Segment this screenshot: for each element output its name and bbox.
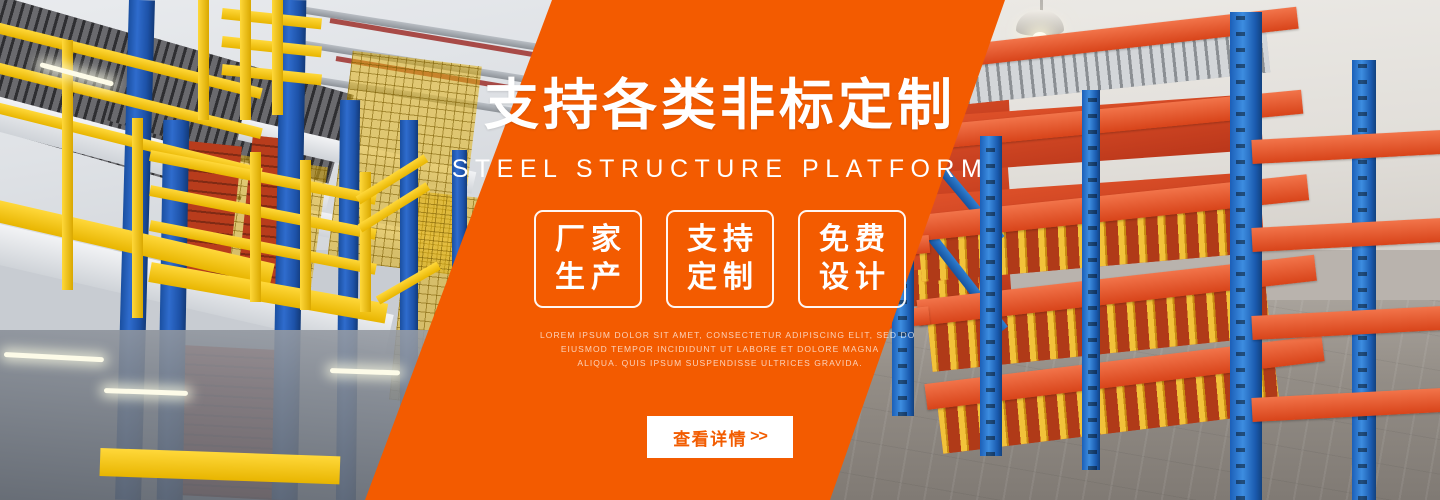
- promo-banner: 支持各类非标定制 STEEL STRUCTURE PLATFORM 厂家 生产 …: [0, 0, 1440, 500]
- view-details-label: 查看详情: [673, 425, 747, 450]
- feature-badge-line2: 生产: [549, 261, 627, 295]
- feature-badge-customization: 支持 定制: [666, 210, 774, 308]
- description-line-1: LOREM IPSUM DOLOR SIT AMET, CONSECTETUR …: [540, 328, 900, 342]
- feature-badge-free-design: 免费 设计: [798, 210, 906, 308]
- feature-badges: 厂家 生产 支持 定制 免费 设计: [534, 210, 906, 308]
- banner-content: 支持各类非标定制 STEEL STRUCTURE PLATFORM 厂家 生产 …: [0, 0, 1440, 500]
- page-title: 支持各类非标定制: [0, 78, 1440, 133]
- description-line-2: EIUSMOD TEMPOR INCIDIDUNT UT LABORE ET D…: [540, 342, 900, 356]
- subtitle: STEEL STRUCTURE PLATFORM: [0, 155, 1440, 184]
- feature-badge-manufacturer: 厂家 生产: [534, 210, 642, 308]
- feature-badge-line1: 支持: [681, 223, 759, 257]
- description-line-3: ALIQUA. QUIS IPSUM SUSPENDISSE ULTRICES …: [540, 356, 900, 370]
- view-details-button[interactable]: 查看详情 >>: [647, 416, 793, 458]
- feature-badge-line2: 设计: [813, 261, 891, 295]
- feature-badge-line1: 厂家: [549, 223, 627, 257]
- cta-container: 查看详情 >>: [647, 416, 793, 458]
- double-chevron-right-icon: >>: [750, 428, 767, 446]
- description-text: LOREM IPSUM DOLOR SIT AMET, CONSECTETUR …: [540, 328, 900, 370]
- feature-badge-line2: 定制: [681, 261, 759, 295]
- feature-badge-line1: 免费: [813, 223, 891, 257]
